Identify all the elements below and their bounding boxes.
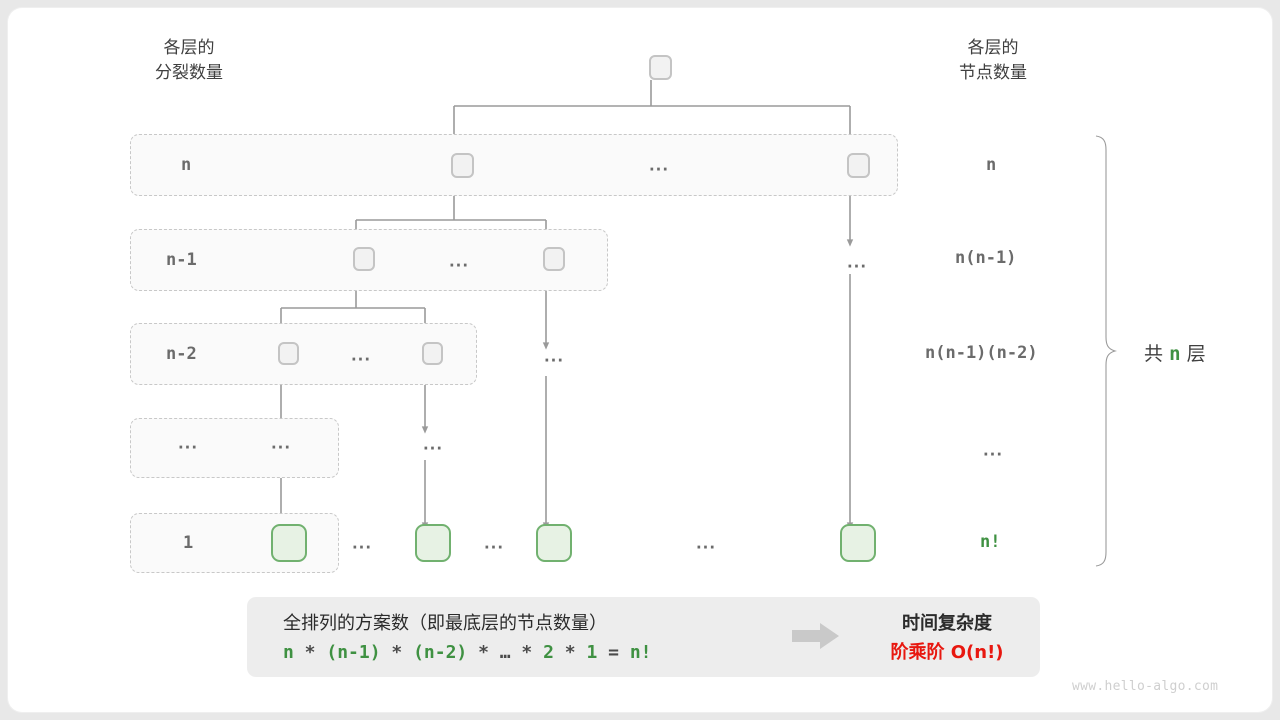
- node-count-level-0: n: [986, 155, 996, 175]
- summary-title: 全排列的方案数（即最底层的节点数量）: [283, 610, 652, 638]
- formula-token: *: [294, 642, 327, 663]
- split-count-level-3: ···: [178, 441, 198, 456]
- total-levels-suffix: 层: [1187, 343, 1206, 365]
- total-levels-prefix: 共: [1144, 343, 1163, 365]
- ellipsis-leaf-a: ···: [352, 541, 372, 556]
- summary-box: 全排列的方案数（即最底层的节点数量） n * (n-1) * (n-2) * ……: [247, 597, 1040, 677]
- formula-token: *: [381, 642, 414, 663]
- summary-left: 全排列的方案数（即最底层的节点数量） n * (n-1) * (n-2) * ……: [283, 610, 652, 668]
- ellipsis-l3-a: ···: [271, 441, 291, 456]
- tree-node-l2-b: [422, 342, 443, 365]
- complexity-value: 阶乘阶 O(n!): [872, 638, 1022, 668]
- leaf-node-2: [415, 524, 451, 562]
- summary-right: 时间复杂度 阶乘阶 O(n!): [872, 610, 1022, 668]
- split-count-level-4: 1: [183, 533, 193, 553]
- total-levels-label: 共 n 层: [1144, 339, 1206, 366]
- arrow-right-icon: [792, 623, 840, 649]
- ellipsis-l3-b: ···: [423, 442, 443, 457]
- diagram-canvas: 各层的 分裂数量 各层的 节点数量 n n-1 n-2 ··· 1 n n(n-…: [8, 8, 1272, 712]
- node-count-level-2: n(n-1)(n-2): [925, 343, 1038, 363]
- tree-node-l0-a: [451, 153, 474, 178]
- tree-node-l1-a: [353, 247, 375, 271]
- total-levels-value: n: [1169, 343, 1180, 365]
- left-column-header: 各层的 分裂数量: [108, 36, 270, 86]
- leaf-node-4: [840, 524, 876, 562]
- leaf-node-3: [536, 524, 572, 562]
- level-band-3: [130, 418, 339, 478]
- level-band-4: [130, 513, 339, 573]
- leaf-node-1: [271, 524, 307, 562]
- right-column-header: 各层的 节点数量: [912, 36, 1074, 86]
- level-band-0: [130, 134, 898, 196]
- ellipsis-leaf-c: ···: [696, 541, 716, 556]
- formula-token: 1: [586, 642, 597, 663]
- formula-token: n!: [630, 642, 652, 663]
- watermark: www.hello-algo.com: [1072, 679, 1218, 694]
- ellipsis-leaf-b: ···: [484, 541, 504, 556]
- formula-token: n: [283, 642, 294, 663]
- formula-token: * … *: [467, 642, 543, 663]
- node-count-level-3: ···: [983, 448, 1003, 463]
- ellipsis-l1-right-chain: ···: [847, 260, 867, 275]
- split-count-level-0: n: [181, 155, 191, 175]
- tree-node-l0-b: [847, 153, 870, 178]
- tree-node-l1-b: [543, 247, 565, 271]
- tree-node-root: [649, 55, 672, 80]
- formula-token: (n-1): [326, 642, 380, 663]
- ellipsis-l0: ···: [649, 163, 669, 178]
- split-count-level-1: n-1: [166, 250, 197, 270]
- summary-formula: n * (n-1) * (n-2) * … * 2 * 1 = n!: [283, 638, 652, 668]
- split-count-level-2: n-2: [166, 344, 197, 364]
- node-count-level-1: n(n-1): [955, 248, 1016, 268]
- ellipsis-l1: ···: [449, 259, 469, 274]
- ellipsis-l2-mid-chain: ···: [544, 354, 564, 369]
- node-count-level-4: n!: [980, 532, 1000, 552]
- complexity-title: 时间复杂度: [872, 610, 1022, 638]
- ellipsis-l2: ···: [351, 353, 371, 368]
- formula-token: 2: [543, 642, 554, 663]
- formula-token: (n-2): [413, 642, 467, 663]
- formula-token: *: [554, 642, 587, 663]
- formula-token: =: [597, 642, 630, 663]
- tree-node-l2-a: [278, 342, 299, 365]
